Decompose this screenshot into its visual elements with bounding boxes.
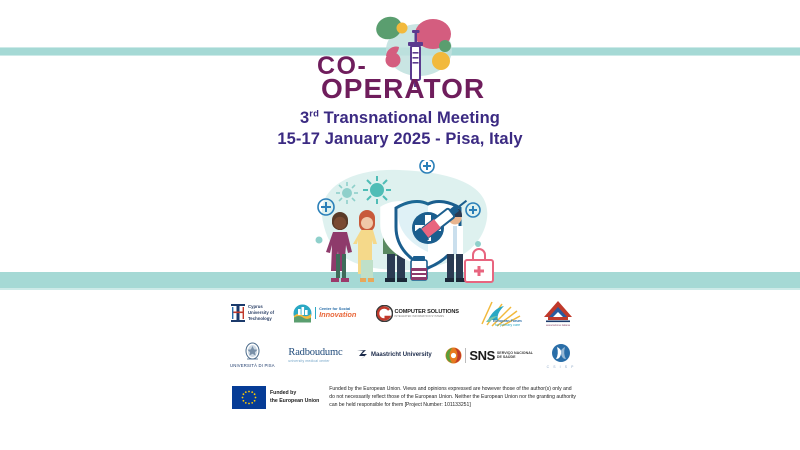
meeting-title-block: 3rd Transnational Meeting 15-17 January … <box>0 108 800 150</box>
csip-emblem-icon <box>550 342 572 364</box>
computer-solutions-name: COMPUTER SOLUTIONS <box>395 309 459 315</box>
eu-funding-label-line-2: the European Union <box>270 398 319 406</box>
sns-acronym: SNS <box>469 348 495 363</box>
csi-emblem-icon <box>293 304 312 323</box>
sns-emblem-icon <box>445 347 462 364</box>
meeting-date-location: 15-17 January 2025 - Pisa, Italy <box>0 129 800 150</box>
partner-logos: Cyprus University of Technology <box>230 296 575 376</box>
meeting-ordinal-suffix: rd <box>309 109 319 120</box>
partner-logo-row-1: Cyprus University of Technology <box>230 296 575 330</box>
partner-logo-associazione-italiana-partner[interactable]: associazione italiana <box>541 298 575 328</box>
cut-label: Cyprus University of Technology <box>248 304 274 321</box>
cut-emblem-icon <box>230 302 246 324</box>
sns-divider <box>465 348 466 363</box>
hero-illustration <box>0 160 800 288</box>
meeting-title-line-1: 3rd Transnational Meeting <box>0 108 800 129</box>
partner-logo-european-forum-for-primary-care[interactable]: European Forum for primary care <box>478 298 522 328</box>
csip-label: C S I S P <box>547 365 575 369</box>
unipi-crest-icon <box>244 342 261 362</box>
cut-line-3: Technology <box>248 316 274 322</box>
partner-logo-cyprus-university-of-technology[interactable]: Cyprus University of Technology <box>230 302 274 324</box>
maastricht-emblem-icon <box>356 349 368 361</box>
eu-funding-strip: Funded by the European Union Funded by t… <box>232 386 577 410</box>
radboud-tagline: university medical center <box>288 359 329 363</box>
co-operator-logo-graphic: CO- OPERATOR <box>285 8 515 104</box>
csi-label: Center for Social Innovation <box>315 307 356 319</box>
maastricht-label: Maastricht University <box>371 352 432 358</box>
partner-logo-sns[interactable]: SNS SERVIÇO NACIONAL DE SAÚDE <box>445 347 533 364</box>
partner-logo-row-2: UNIVERSITÀ DI PISA Radboudumc university… <box>230 334 575 376</box>
sns-fullname-line-2: DE SAÚDE <box>497 355 533 359</box>
presentation-slide: CO- OPERATOR 3rd Transnational Meeting 1… <box>0 0 800 450</box>
partner-logo-radboud-umc[interactable]: Radboudumc university medical center <box>288 347 342 363</box>
partner-logo-computer-solutions[interactable]: COMPUTER SOLUTIONS INTEGRATED INFORMATIO… <box>376 305 459 322</box>
project-logo: CO- OPERATOR <box>0 8 800 104</box>
partner-logo-csi-partner[interactable]: C S I S P <box>547 342 575 369</box>
european-union-flag-icon <box>232 386 266 409</box>
eu-funding-badge: Funded by the European Union <box>232 386 319 409</box>
computer-solutions-emblem-icon <box>376 305 393 322</box>
meeting-ordinal: 3 <box>300 109 309 127</box>
efpc-emblem-icon: European Forum for primary care <box>478 298 522 328</box>
first-aid-kit <box>465 249 493 282</box>
eu-funding-disclaimer: Funded by the European Union. Views and … <box>329 386 577 410</box>
eu-funding-label: Funded by the European Union <box>270 390 319 405</box>
unipi-label: UNIVERSITÀ DI PISA <box>230 363 275 368</box>
csi-big-text: Innovation <box>319 311 356 319</box>
italian-partner-emblem-icon: associazione italiana <box>541 298 575 328</box>
partner-logo-center-for-social-innovation[interactable]: Center for Social Innovation <box>293 304 356 323</box>
svg-text:OPERATOR: OPERATOR <box>321 73 485 104</box>
vaccination-illustration-graphic <box>295 160 505 288</box>
meeting-title-rest: Transnational Meeting <box>319 109 500 127</box>
computer-solutions-tagline: INTEGRATED INFORMATION SYSTEMS <box>395 315 459 318</box>
radboud-name: Radboudumc <box>288 347 342 358</box>
eu-funding-label-line-1: Funded by <box>270 390 319 398</box>
svg-text:associazione italiana: associazione italiana <box>546 323 570 327</box>
partner-logo-universita-di-pisa[interactable]: UNIVERSITÀ DI PISA <box>230 342 275 368</box>
vaccine-vial <box>411 256 427 280</box>
computer-solutions-label: COMPUTER SOLUTIONS INTEGRATED INFORMATIO… <box>395 309 459 318</box>
efpc-line-2: for primary care <box>495 323 520 327</box>
sns-fullname: SERVIÇO NACIONAL DE SAÚDE <box>497 351 533 359</box>
partner-logo-maastricht-university[interactable]: Maastricht University <box>356 349 432 361</box>
